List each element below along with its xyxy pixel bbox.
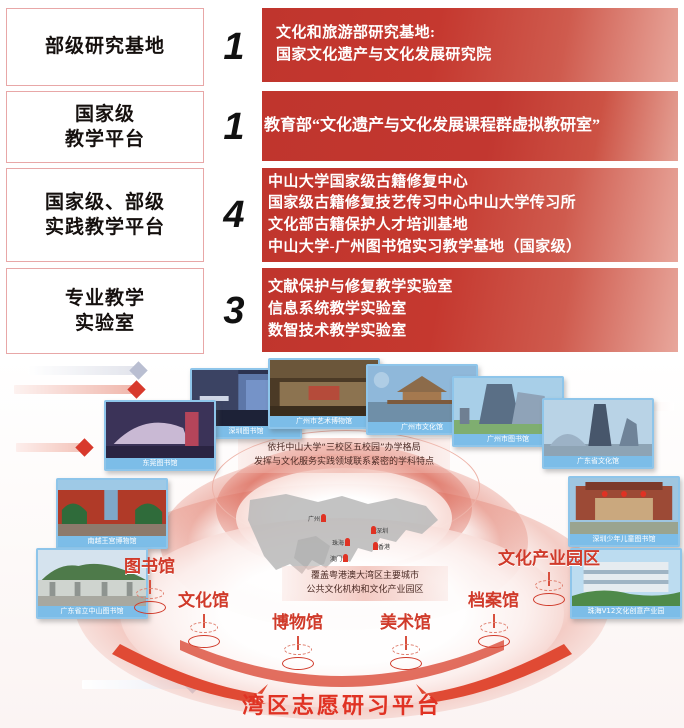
table-category-cell-2: 国家级、部级 实践教学平台 xyxy=(6,168,204,262)
table-category-cell-3: 专业教学 实验室 xyxy=(6,268,204,354)
city-marker-macau: 澳门 xyxy=(330,554,348,563)
category-label: 国家级 教学平台 xyxy=(65,102,145,152)
item-text: 信息系统教学实验室 xyxy=(268,299,453,321)
photo-image xyxy=(106,402,214,458)
photo-frame: 广州市艺术博物馆 xyxy=(268,358,380,429)
photo-frame: 深圳少年儿童图书馆 xyxy=(568,476,680,547)
callout-top-line-2: 发挥与文化服务实践领域联系紧密的学科特点 xyxy=(246,456,442,470)
photo-frame: 南越王宫博物馆 xyxy=(56,478,168,549)
item-text: 文化部古籍保护人才培训基地 xyxy=(268,215,581,237)
photo-image xyxy=(544,400,652,456)
decor-bar-grey xyxy=(28,366,138,375)
photo-caption: 南越王宫博物馆 xyxy=(58,536,166,547)
decor-diamond-grey xyxy=(129,361,147,379)
photo-caption: 广东省文化馆 xyxy=(544,456,652,467)
city-marker-hongkong: 香港 xyxy=(372,542,390,551)
callout-bottom: 覆盖粤港澳大湾区主要城市 公共文化机构和文化产业园区 xyxy=(282,566,448,601)
decor-diamond-red xyxy=(127,380,145,398)
table-count-2: 4 xyxy=(208,168,260,262)
photo-caption: 东莞图书馆 xyxy=(106,458,214,469)
callout-top-line-1: 依托中山大学“三校区五校园”办学格局 xyxy=(246,442,442,456)
pin-label: 图书馆 xyxy=(124,552,175,577)
map-pin-icon xyxy=(345,538,350,546)
item-text: 教育部“文化遗产与文化发展课程群虚拟教研室” xyxy=(264,114,600,137)
platform-banner-label: 湾区志愿研习平台 xyxy=(0,688,684,720)
photo-card-shenzhen-children-library[interactable]: 深圳少年儿童图书馆 xyxy=(568,476,680,547)
photo-card-nanyue-palace-museum[interactable]: 南越王宫博物馆 xyxy=(56,478,168,549)
category-label: 部级研究基地 xyxy=(45,34,165,59)
decor-bar-red-2 xyxy=(16,443,84,452)
photo-image xyxy=(270,360,378,416)
pin-culture-industry-park[interactable]: 文化产业园区 xyxy=(498,544,600,606)
item-text: 文献保护与修复教学实验室 xyxy=(268,277,453,299)
map-pin-icon xyxy=(343,554,348,562)
table-items-band-1: 教育部“文化遗产与文化发展课程群虚拟教研室” xyxy=(262,91,678,161)
pin-dashed-ellipse xyxy=(480,622,508,633)
photo-frame: 广东省文化馆 xyxy=(542,398,654,469)
item-text: 文化和旅游部研究基地: xyxy=(276,23,492,45)
pin-solid-ellipse xyxy=(134,601,166,614)
pin-library[interactable]: 图书馆 xyxy=(124,552,175,614)
table-items-band-0: 文化和旅游部研究基地: 国家文化遗产与文化发展研究院 xyxy=(262,8,678,82)
photo-card-guangzhou-art-museum[interactable]: 广州市艺术博物馆 xyxy=(268,358,380,429)
photo-frame: 东莞图书馆 xyxy=(104,400,216,471)
item-text: 国家级古籍修复技艺传习中心中山大学传习所 xyxy=(268,193,581,215)
photo-caption: 广州市艺术博物馆 xyxy=(270,416,378,427)
city-marker-shenzhen: 深圳 xyxy=(370,526,388,535)
table-category-cell-0: 部级研究基地 xyxy=(6,8,204,86)
photo-card-guangdong-culture-center[interactable]: 广东省文化馆 xyxy=(542,398,654,469)
table-count-0: 1 xyxy=(208,8,260,86)
callout-bottom-line-2: 公共文化机构和文化产业园区 xyxy=(290,584,440,598)
category-label: 专业教学 实验室 xyxy=(65,286,145,336)
pin-label: 美术馆 xyxy=(380,608,431,633)
photo-card-dongguan-library[interactable]: 东莞图书馆 xyxy=(104,400,216,471)
map-pin-icon xyxy=(321,514,326,522)
photo-caption: 珠海V12文化创意产业园 xyxy=(572,606,680,617)
pin-solid-ellipse xyxy=(533,593,565,606)
item-text: 国家文化遗产与文化发展研究院 xyxy=(276,45,492,67)
pin-dashed-ellipse xyxy=(535,580,563,591)
pin-label: 文化馆 xyxy=(178,586,229,611)
pin-culture-center[interactable]: 文化馆 xyxy=(178,586,229,648)
decor-bar-red xyxy=(14,385,136,394)
table-category-cell-1: 国家级 教学平台 xyxy=(6,91,204,163)
category-label: 国家级、部级 实践教学平台 xyxy=(45,190,165,240)
item-text: 数智技术教学实验室 xyxy=(268,321,453,343)
table-count-3: 3 xyxy=(208,268,260,354)
pin-label: 博物馆 xyxy=(272,608,323,633)
photo-image xyxy=(570,478,678,534)
callout-bottom-line-1: 覆盖粤港澳大湾区主要城市 xyxy=(290,570,440,584)
pin-dashed-ellipse xyxy=(136,588,164,599)
table-count-1: 1 xyxy=(208,91,260,163)
item-text: 中山大学国家级古籍修复中心 xyxy=(268,172,581,194)
platform-table: 部级研究基地 1 文化和旅游部研究基地: 国家文化遗产与文化发展研究院 国家级 … xyxy=(0,0,684,360)
photo-image xyxy=(58,480,166,536)
bay-area-diagram: 广州 深圳 珠海 香港 澳门 依托中山大学“三校区五校园”办学格局 发挥与文化服… xyxy=(0,358,684,728)
pin-label: 文化产业园区 xyxy=(498,544,600,569)
callout-top: 依托中山大学“三校区五校园”办学格局 发挥与文化服务实践领域联系紧密的学科特点 xyxy=(238,438,450,473)
city-marker-zhuhai: 珠海 xyxy=(332,538,350,547)
pin-dashed-ellipse xyxy=(190,622,218,633)
table-items-band-3: 文献保护与修复教学实验室 信息系统教学实验室 数智技术教学实验室 xyxy=(262,268,678,352)
item-text: 中山大学-广州图书馆实习教学基地（国家级） xyxy=(268,237,581,259)
decor-diamond-red-2 xyxy=(75,438,93,456)
city-marker-guangzhou: 广州 xyxy=(308,514,326,523)
table-items-band-2: 中山大学国家级古籍修复中心 国家级古籍修复技艺传习中心中山大学传习所 文化部古籍… xyxy=(262,168,678,262)
